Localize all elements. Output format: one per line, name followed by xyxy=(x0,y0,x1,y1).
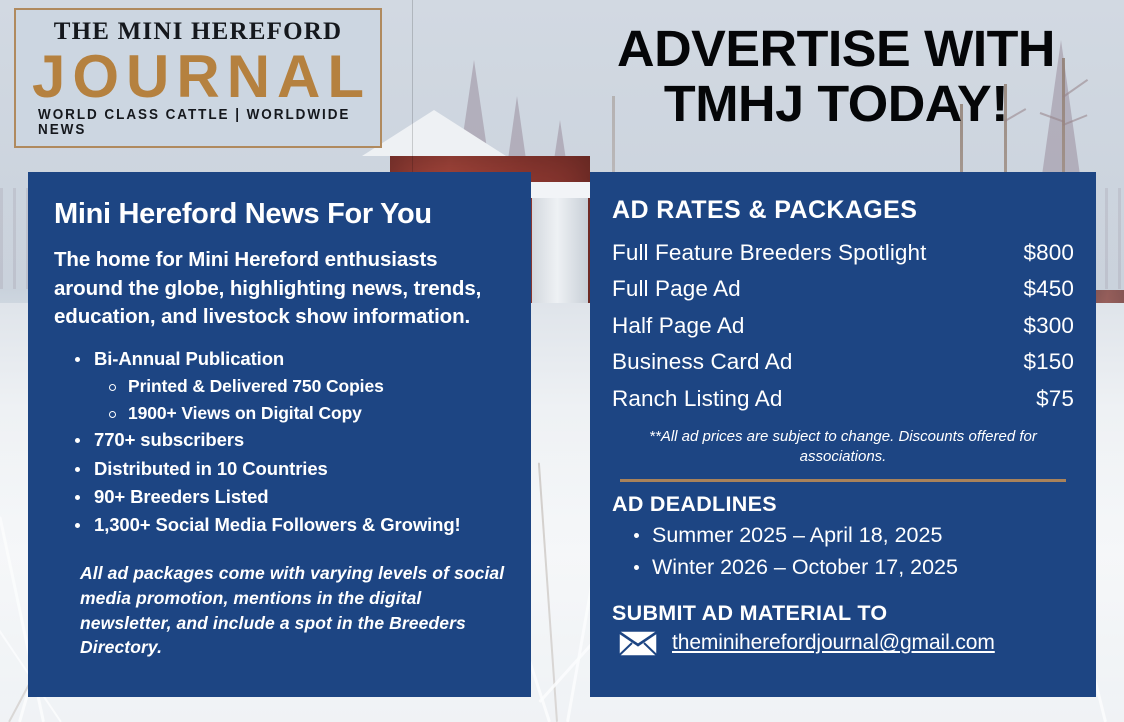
highlight-item: Bi-Annual Publication xyxy=(54,345,505,373)
deadline-item: Summer 2025 – April 18, 2025 xyxy=(612,520,1074,551)
ad-package-note: All ad packages come with varying levels… xyxy=(54,561,505,660)
rate-name: Half Page Ad xyxy=(612,308,1024,344)
highlight-item: Distributed in 10 Countries xyxy=(54,455,505,483)
rates-title: AD RATES & PACKAGES xyxy=(612,196,1074,225)
submit-title: SUBMIT AD MATERIAL TO xyxy=(612,601,1074,626)
highlight-item: Printed & Delivered 750 Copies xyxy=(54,373,505,400)
deadline-item: Winter 2026 – October 17, 2025 xyxy=(612,552,1074,583)
email-link[interactable]: theminiherefordjournal@gmail.com xyxy=(672,631,995,655)
advertising-flyer: THE MINI HEREFORD JOURNAL WORLD CLASS CA… xyxy=(0,0,1124,722)
journal-logo: THE MINI HEREFORD JOURNAL WORLD CLASS CA… xyxy=(14,8,382,148)
rate-name: Full Feature Breeders Spotlight xyxy=(612,235,1024,271)
highlight-item: 90+ Breeders Listed xyxy=(54,483,505,511)
rate-name: Ranch Listing Ad xyxy=(612,381,1036,417)
rate-row: Full Feature Breeders Spotlight$800 xyxy=(612,235,1074,271)
section-divider xyxy=(620,479,1066,482)
logo-line-top: THE MINI HEREFORD xyxy=(54,19,342,44)
logo-wordmark: JOURNAL xyxy=(25,46,371,107)
rate-row: Half Page Ad$300 xyxy=(612,308,1074,344)
deadlines-title: AD DEADLINES xyxy=(612,492,1074,517)
price-disclaimer: **All ad prices are subject to change. D… xyxy=(626,427,1060,466)
deadlines-list: Summer 2025 – April 18, 2025Winter 2026 … xyxy=(612,520,1074,583)
rate-price: $150 xyxy=(1024,344,1074,380)
news-panel: Mini Hereford News For You The home for … xyxy=(28,172,531,697)
panel-lead-paragraph: The home for Mini Hereford enthusiasts a… xyxy=(54,246,505,331)
rate-name: Full Page Ad xyxy=(612,271,1024,307)
highlight-item: 1,300+ Social Media Followers & Growing! xyxy=(54,511,505,539)
rate-price: $300 xyxy=(1024,308,1074,344)
rate-price: $75 xyxy=(1036,381,1074,417)
rates-table: Full Feature Breeders Spotlight$800Full … xyxy=(612,235,1074,417)
rate-row: Business Card Ad$150 xyxy=(612,344,1074,380)
rate-price: $450 xyxy=(1024,271,1074,307)
rate-row: Full Page Ad$450 xyxy=(612,271,1074,307)
rate-name: Business Card Ad xyxy=(612,344,1024,380)
highlights-list: Bi-Annual PublicationPrinted & Delivered… xyxy=(54,345,505,539)
panel-title: Mini Hereford News For You xyxy=(54,198,505,231)
highlight-item: 1900+ Views on Digital Copy xyxy=(54,400,505,427)
rate-price: $800 xyxy=(1024,235,1074,271)
highlight-item: 770+ subscribers xyxy=(54,426,505,454)
logo-tagline: WORLD CLASS CATTLE | WORLDWIDE NEWS xyxy=(38,108,358,137)
headline-line-1: ADVERTISE WITH xyxy=(571,22,1101,77)
headline-line-2: TMHJ TODAY! xyxy=(571,77,1101,132)
rate-row: Ranch Listing Ad$75 xyxy=(612,381,1074,417)
headline: ADVERTISE WITH TMHJ TODAY! xyxy=(571,22,1101,131)
envelope-icon xyxy=(618,630,658,657)
rates-panel: AD RATES & PACKAGES Full Feature Breeder… xyxy=(590,172,1096,697)
email-row[interactable]: theminiherefordjournal@gmail.com xyxy=(612,630,1074,657)
